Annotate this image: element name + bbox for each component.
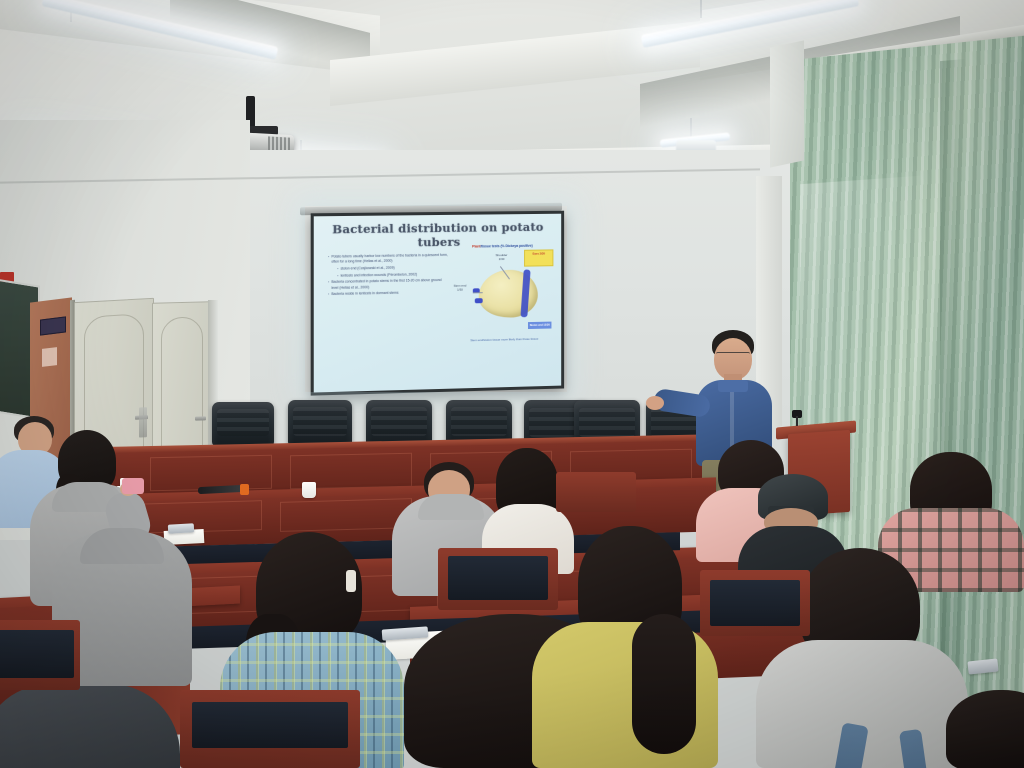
- slide-bullet-list: ▪ Potato tubers usually harbor low numbe…: [328, 253, 449, 299]
- callout-blue-stolon: Stolon end 12/30: [528, 322, 551, 329]
- tuber-eye-2: [475, 298, 483, 303]
- bullet-marker: •: [337, 273, 338, 278]
- hair-clip: [346, 570, 356, 592]
- bullet-marker: ▪: [328, 280, 329, 291]
- audience-person-bottom-left: [0, 684, 180, 768]
- slide-bullet-text: Bacteria concentrated in potato stems in…: [331, 278, 449, 291]
- slide-bullet-text: Potato tubers usually harbor low numbers…: [331, 253, 449, 265]
- podium-mic-arm: [796, 416, 798, 426]
- front-chair-2: [288, 400, 352, 446]
- wooden-chair-left-low-pad: [0, 630, 74, 678]
- wooden-chair-right-pad: [710, 580, 800, 626]
- person-hair-over-shoulder: [632, 614, 696, 754]
- wooden-chair-backrow: [556, 472, 636, 512]
- diagram-heading-red: Plant: [472, 244, 480, 248]
- callout-yellow-eyes: Eyes 3/30: [524, 249, 553, 266]
- audience-person-far-right: [946, 690, 1024, 768]
- bullet-marker: ▪: [328, 292, 329, 297]
- slide-bullet-4: ▪ Bacteria concentrated in potato stems …: [328, 278, 449, 291]
- door-panel: [161, 316, 203, 455]
- desk-microphone-1-base: [240, 484, 249, 495]
- slide-bullet-text: stolon end (Czajkowski et al., 2009): [340, 265, 449, 272]
- label-shoulder: Shoulder 1/30: [487, 254, 517, 262]
- person-hood: [418, 494, 484, 520]
- diagram-footnote: Stem end/stolon tissue more likely than …: [455, 336, 553, 342]
- front-chair-3: [366, 400, 432, 446]
- audience-person-olive-sweater: [536, 526, 716, 768]
- curtain-corner-wall: [770, 40, 804, 167]
- wooden-chair-left-front-pad: [192, 702, 348, 748]
- slide-bullet-5: ▪ Bacteria reside in lenticels in dorman…: [328, 290, 449, 297]
- label-stem-end: Stem end 1/30: [447, 284, 473, 292]
- person-hood: [80, 528, 164, 564]
- door-plaque: [40, 316, 66, 335]
- door-notice: [42, 347, 57, 367]
- callout-blue-text: Stolon end 12/30: [528, 322, 551, 329]
- wooden-chair-mid-pad: [448, 556, 548, 600]
- desk-row-a-panel-2: [280, 498, 412, 532]
- pink-phone: [122, 478, 144, 494]
- bullet-marker: •: [337, 266, 338, 271]
- front-chair-1: [212, 402, 274, 446]
- diagram-heading-rest: /tissue tests (% Dickeya positive): [480, 244, 532, 249]
- label-shoulder-value: 1/30: [499, 257, 505, 261]
- presenter-glasses: [716, 352, 750, 360]
- label-stem-end-value: 1/30: [457, 287, 463, 291]
- lecture-hall-photo: Bacterial distribution on potato tubers …: [0, 0, 1024, 768]
- presenter-hand: [646, 396, 664, 410]
- slide-diagram: Plant/tissue tests (% Dickeya positive) …: [449, 243, 555, 340]
- callout-yellow-text: Eyes 3/30: [525, 250, 552, 256]
- presenter-collar: [718, 380, 748, 392]
- door-handle: [195, 416, 206, 420]
- paper-cup-1: [302, 482, 316, 498]
- slide-bullet-1: ▪ Potato tubers usually harbor low numbe…: [328, 253, 449, 265]
- person-torso: [0, 684, 180, 768]
- slide-bullet-text: Bacteria reside in lenticels in dormant …: [331, 290, 449, 297]
- diagram-heading: Plant/tissue tests (% Dickeya positive): [449, 243, 555, 248]
- projection-screen: Bacterial distribution on potato tubers …: [311, 211, 564, 396]
- bullet-marker: ▪: [328, 255, 329, 266]
- presentation-slide: Bacterial distribution on potato tubers …: [314, 214, 561, 393]
- person-hair: [946, 690, 1024, 768]
- light-rod-4: [700, 0, 702, 18]
